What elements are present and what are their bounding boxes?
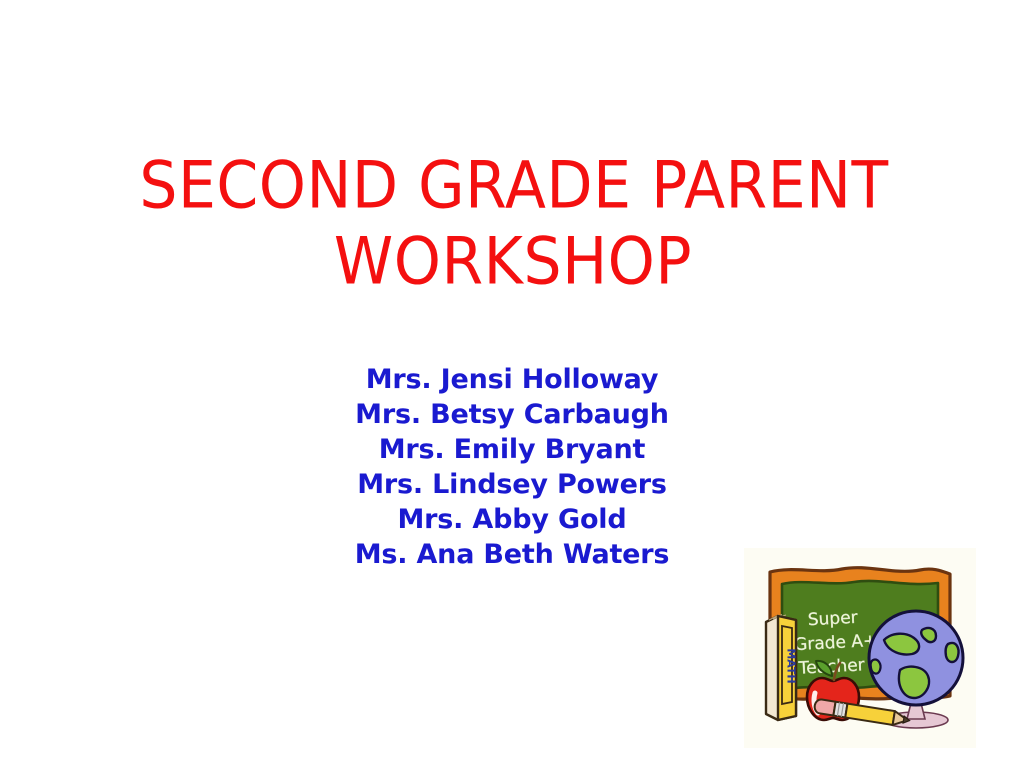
presenter-name: Mrs. Jensi Holloway xyxy=(0,362,1024,397)
globe-land-east xyxy=(946,643,959,662)
presenter-name: Mrs. Emily Bryant xyxy=(0,432,1024,467)
presenter-name-list: Mrs. Jensi Holloway Mrs. Betsy Carbaugh … xyxy=(0,362,1024,572)
book-spine-label: MATH xyxy=(785,648,798,683)
slide-title: SECOND GRADE PARENT WORKSHOP xyxy=(0,145,1024,297)
title-line-1: SECOND GRADE PARENT xyxy=(0,145,1024,227)
presenter-name: Mrs. Abby Gold xyxy=(0,502,1024,537)
title-line-2: WORKSHOP xyxy=(0,221,1024,303)
presentation-slide: SECOND GRADE PARENT WORKSHOP Mrs. Jensi … xyxy=(0,0,1024,768)
chalk-line-1: Super xyxy=(807,608,858,631)
globe-land-west xyxy=(871,660,881,674)
pencil-eraser xyxy=(814,699,836,716)
math-book: MATH xyxy=(766,615,798,721)
presenter-name: Mrs. Lindsey Powers xyxy=(0,467,1024,502)
teacher-chalkboard-clipart-icon: Super Grade A+ Teacher MATH xyxy=(744,548,976,748)
globe-land-south xyxy=(899,667,929,698)
presenter-name: Mrs. Betsy Carbaugh xyxy=(0,397,1024,432)
